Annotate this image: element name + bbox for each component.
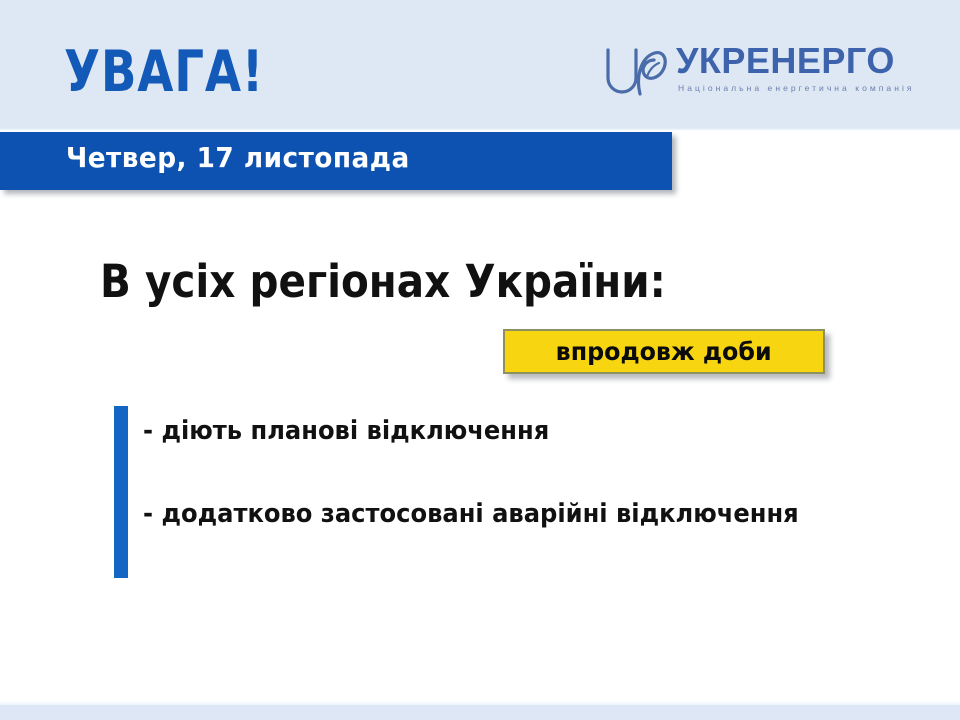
date-banner: Четвер, 17 листопада — [0, 132, 672, 190]
list-item: - діють планові відключення — [143, 418, 878, 444]
ukrenergo-logo: УКРЕНЕРГО Національна енергетична компан… — [600, 42, 918, 104]
duration-badge-label: впродовж доби — [556, 337, 772, 366]
announcement-slide: УВАГА! УКРЕНЕРГО Національна енергетична… — [0, 0, 960, 720]
main-heading: В усіх регіонах України: — [100, 258, 666, 305]
footer-strip — [0, 705, 960, 720]
list-item: - додатково застосовані аварійні відключ… — [143, 501, 878, 527]
logo-wordmark: УКРЕНЕРГО — [676, 42, 895, 80]
ukrenergo-u-spiral-mark — [600, 44, 670, 100]
logo-tagline: Національна енергетична компанія — [678, 83, 915, 93]
page-title: УВАГА! — [64, 44, 264, 101]
duration-badge: впродовж доби — [503, 329, 825, 374]
bullet-list: - діють планові відключення - додатково … — [143, 418, 933, 527]
accent-bar — [114, 406, 128, 578]
date-banner-label: Четвер, 17 листопада — [66, 141, 410, 174]
